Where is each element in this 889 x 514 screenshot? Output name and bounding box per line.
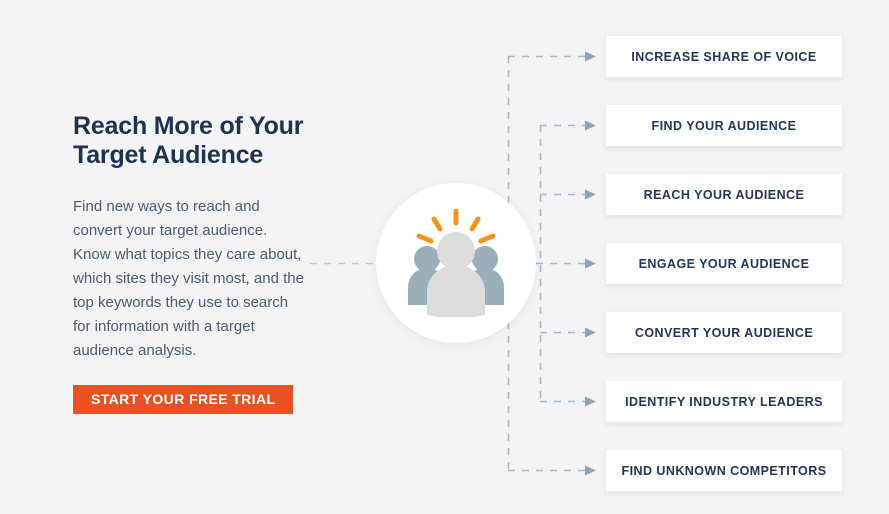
page-title: Reach More of Your Target Audience bbox=[73, 112, 318, 170]
outcome-card-label: FIND UNKNOWN COMPETITORS bbox=[621, 464, 826, 478]
outcome-card-label: IDENTIFY INDUSTRY LEADERS bbox=[625, 395, 823, 409]
outcome-card[interactable]: FIND UNKNOWN COMPETITORS bbox=[606, 450, 842, 491]
outcome-card-label: CONVERT YOUR AUDIENCE bbox=[635, 326, 813, 340]
outcome-card[interactable]: INCREASE SHARE OF VOICE bbox=[606, 36, 842, 77]
intro-paragraph: Find new ways to reach and convert your … bbox=[73, 170, 308, 363]
outcome-card-label: INCREASE SHARE OF VOICE bbox=[631, 50, 816, 64]
audience-group-icon bbox=[376, 183, 536, 343]
outcome-card-label: REACH YOUR AUDIENCE bbox=[644, 188, 805, 202]
outcome-card[interactable]: FIND YOUR AUDIENCE bbox=[606, 105, 842, 146]
outcome-card[interactable]: REACH YOUR AUDIENCE bbox=[606, 174, 842, 215]
audience-diagram-page: Reach More of Your Target Audience Find … bbox=[0, 0, 889, 514]
intro-column: Reach More of Your Target Audience Find … bbox=[73, 112, 318, 363]
outcome-card[interactable]: CONVERT YOUR AUDIENCE bbox=[606, 312, 842, 353]
start-free-trial-button[interactable]: START YOUR FREE TRIAL bbox=[73, 385, 293, 414]
outcome-card-label: FIND YOUR AUDIENCE bbox=[652, 119, 797, 133]
outcome-card[interactable]: IDENTIFY INDUSTRY LEADERS bbox=[606, 381, 842, 422]
outcome-card[interactable]: ENGAGE YOUR AUDIENCE bbox=[606, 243, 842, 284]
outcome-card-label: ENGAGE YOUR AUDIENCE bbox=[639, 257, 810, 271]
connector-arrowheads bbox=[585, 52, 596, 476]
